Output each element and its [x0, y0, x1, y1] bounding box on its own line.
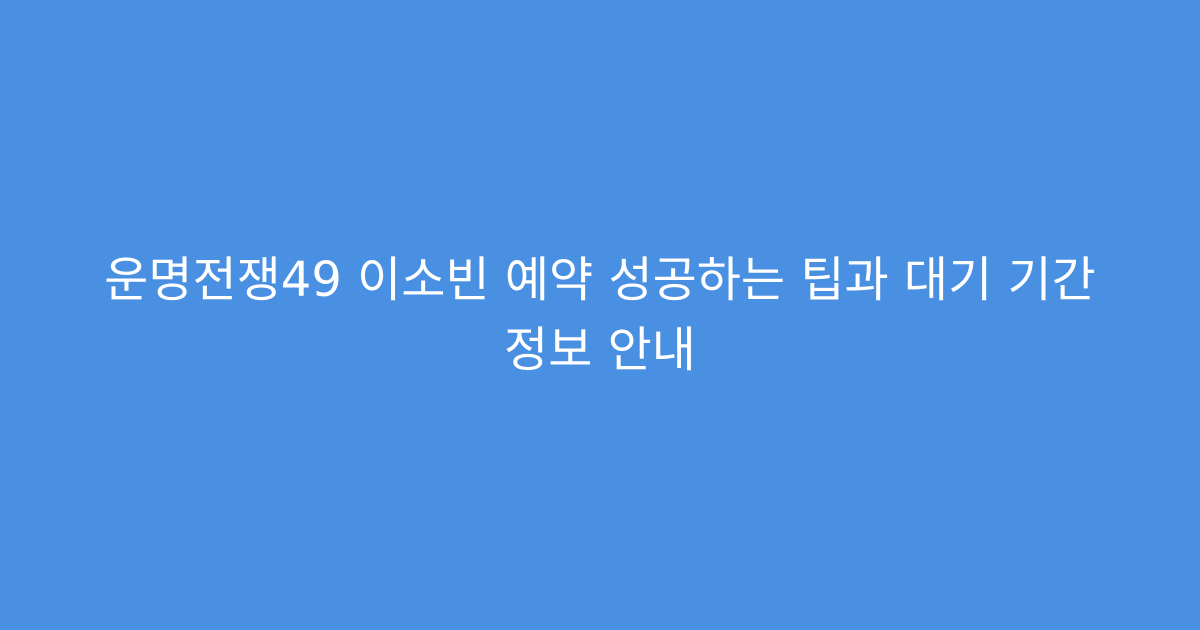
title-block: 운명전쟁49 이소빈 예약 성공하는 팁과 대기 기간 정보 안내 — [70, 245, 1130, 385]
page-title: 운명전쟁49 이소빈 예약 성공하는 팁과 대기 기간 정보 안내 — [70, 245, 1130, 385]
og-image-card: 운명전쟁49 이소빈 예약 성공하는 팁과 대기 기간 정보 안내 — [0, 0, 1200, 630]
